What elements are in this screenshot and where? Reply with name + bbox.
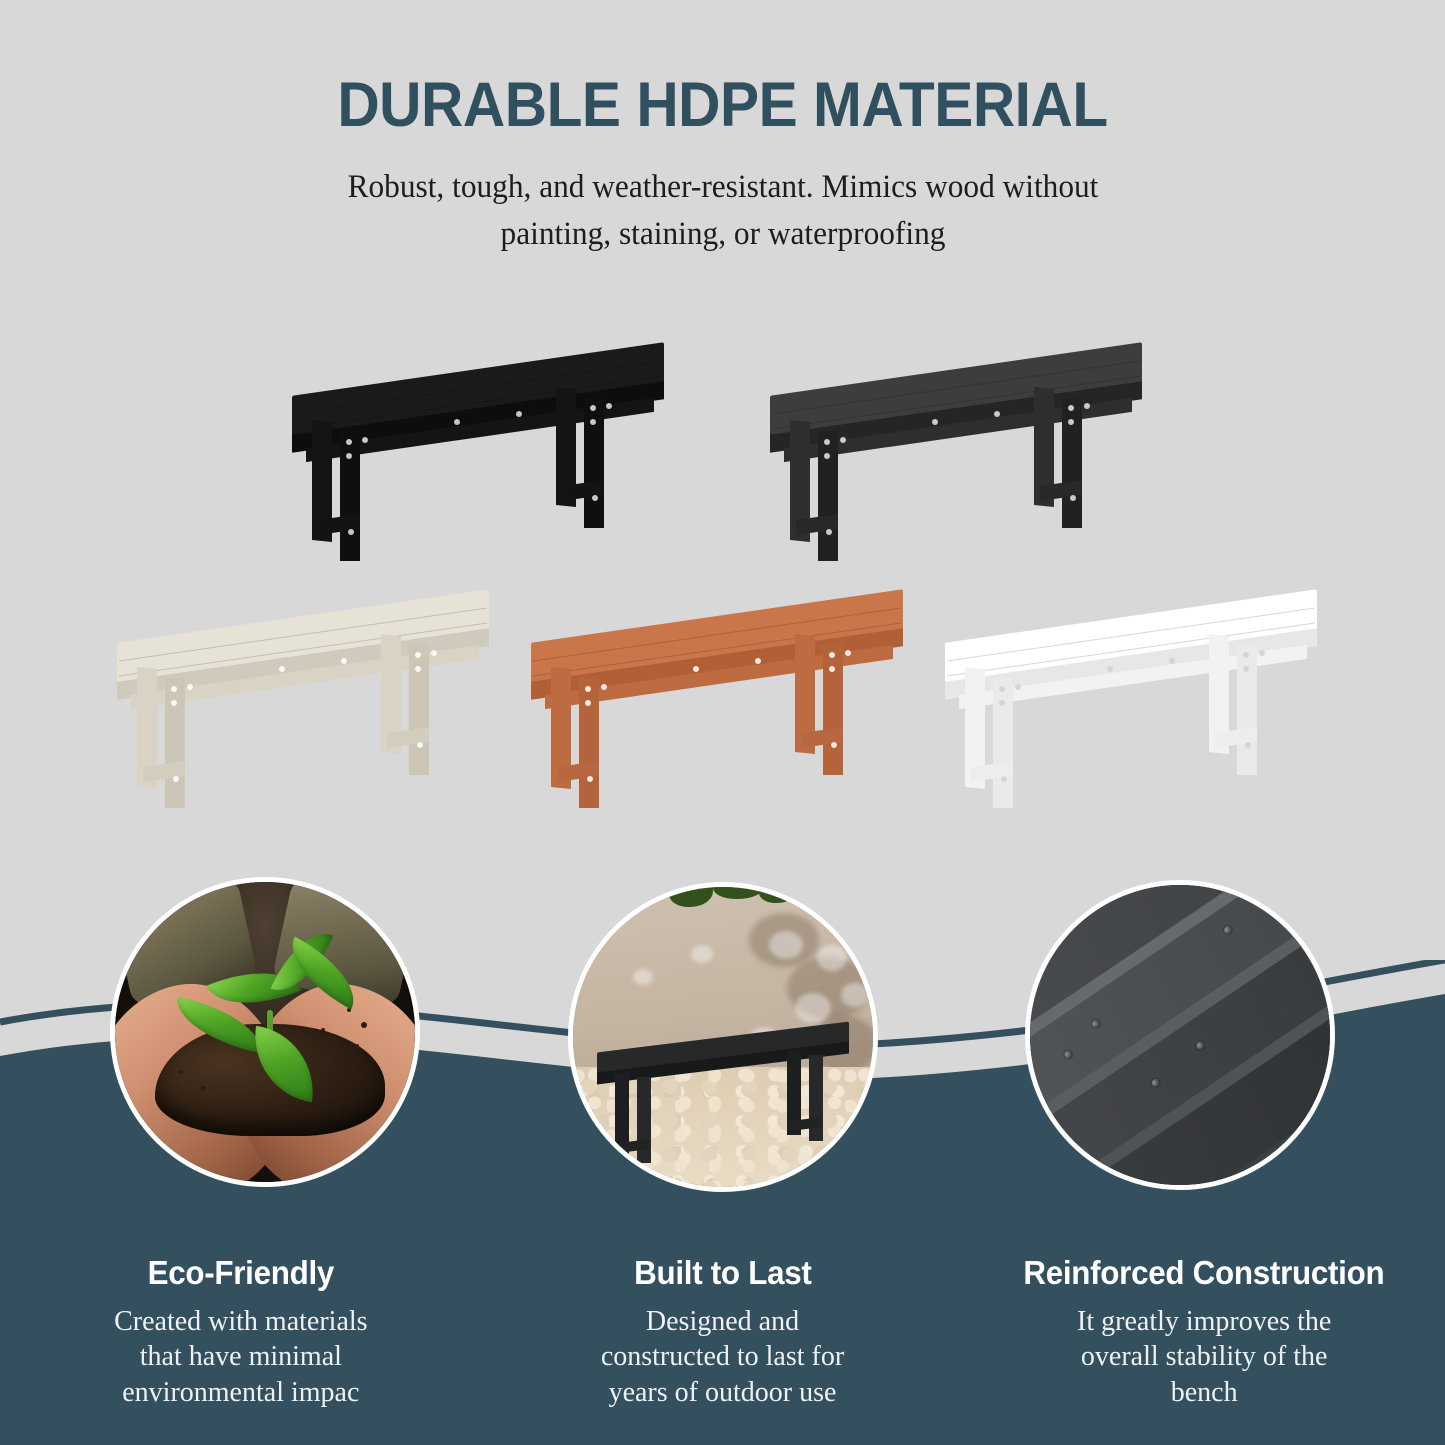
bench-leg-front-right bbox=[1237, 645, 1257, 775]
bench-illustration bbox=[937, 608, 1337, 823]
screw-icon bbox=[592, 495, 598, 501]
screw-icon bbox=[362, 437, 368, 443]
screw-icon bbox=[601, 684, 607, 690]
bench-leg-front-left bbox=[165, 678, 185, 808]
bench-leg-front-left bbox=[993, 678, 1013, 808]
page-subtitle: Robust, tough, and weather-resistant. Mi… bbox=[248, 164, 1198, 258]
screw-icon bbox=[1084, 403, 1090, 409]
bench-black bbox=[284, 361, 684, 576]
screw-icon bbox=[415, 666, 421, 672]
black-bench-outdoors-photo bbox=[568, 882, 878, 1192]
feature-caption-row: Eco-Friendly Created with materials that… bbox=[0, 1254, 1445, 1411]
feature-photo-row bbox=[0, 872, 1445, 1212]
screw-icon bbox=[346, 439, 352, 445]
feature-body-line-2: overall stability of the bbox=[1039, 1339, 1369, 1375]
screw-icon bbox=[606, 403, 612, 409]
screw-icon bbox=[415, 652, 421, 658]
screw-icon bbox=[845, 650, 851, 656]
feature-caption-eco-friendly: Eco-Friendly Created with materials that… bbox=[0, 1254, 482, 1411]
screw-icon bbox=[587, 776, 593, 782]
screw-icon bbox=[348, 529, 354, 535]
bench-color-gallery bbox=[0, 355, 1445, 875]
screw-icon bbox=[1001, 776, 1007, 782]
screw-icon bbox=[829, 666, 835, 672]
feature-body-line-3: environmental impac bbox=[76, 1375, 406, 1411]
feature-body-line-1: Designed and bbox=[573, 1304, 873, 1340]
bench-illustration bbox=[284, 361, 684, 576]
feature-body: Designed and constructed to last for yea… bbox=[573, 1304, 873, 1411]
screw-icon bbox=[173, 776, 179, 782]
reinforced-slat-closeup-photo bbox=[1025, 880, 1335, 1190]
bench-illustration bbox=[109, 608, 509, 823]
screw-icon bbox=[1070, 495, 1076, 501]
bench-leg-front-right bbox=[823, 645, 843, 775]
screw-icon bbox=[1259, 650, 1265, 656]
screw-icon bbox=[585, 686, 591, 692]
feature-body-line-1: Created with materials bbox=[76, 1304, 406, 1340]
screw-icon bbox=[831, 742, 837, 748]
bench-charcoal bbox=[762, 361, 1162, 576]
feature-body-line-3: bench bbox=[1039, 1375, 1369, 1411]
feature-body-line-3: years of outdoor use bbox=[573, 1375, 873, 1411]
bench-illustration bbox=[523, 608, 923, 823]
feature-body: It greatly improves the overall stabilit… bbox=[1039, 1304, 1369, 1411]
page-title: DURABLE HDPE MATERIAL bbox=[51, 72, 1395, 138]
hands-holding-seedling-photo bbox=[110, 877, 420, 1187]
screw-icon bbox=[590, 405, 596, 411]
feature-title: Eco-Friendly bbox=[29, 1254, 452, 1292]
screw-icon bbox=[1015, 684, 1021, 690]
feature-caption-reinforced-construction: Reinforced Construction It greatly impro… bbox=[963, 1254, 1445, 1411]
feature-body-line-1: It greatly improves the bbox=[1039, 1304, 1369, 1340]
screw-icon bbox=[516, 411, 522, 417]
screw-icon bbox=[932, 419, 938, 425]
header-block: DURABLE HDPE MATERIAL Robust, tough, and… bbox=[0, 0, 1445, 258]
screw-icon bbox=[171, 700, 177, 706]
bench-row-bottom bbox=[0, 608, 1445, 823]
screw-icon bbox=[840, 437, 846, 443]
bench-leg-front-right bbox=[1062, 398, 1082, 528]
subtitle-line-2: painting, staining, or waterproofing bbox=[248, 211, 1198, 258]
bench-leg-front-left bbox=[579, 678, 599, 808]
feature-body: Created with materials that have minimal… bbox=[76, 1304, 406, 1411]
screw-icon bbox=[824, 453, 830, 459]
screw-icon bbox=[1068, 405, 1074, 411]
bench-terracotta bbox=[523, 608, 923, 823]
feature-body-line-2: that have minimal bbox=[76, 1339, 406, 1375]
screw-icon bbox=[590, 419, 596, 425]
screw-icon bbox=[1068, 419, 1074, 425]
feature-body-line-2: constructed to last for bbox=[573, 1339, 873, 1375]
bench-leg-front-left bbox=[818, 431, 838, 561]
screw-icon bbox=[994, 411, 1000, 417]
screw-icon bbox=[417, 742, 423, 748]
screw-icon bbox=[279, 666, 285, 672]
screw-icon bbox=[1243, 666, 1249, 672]
screw-icon bbox=[187, 684, 193, 690]
bench-white bbox=[937, 608, 1337, 823]
screw-icon bbox=[755, 658, 761, 664]
screw-icon bbox=[829, 652, 835, 658]
bench-leg-front-right bbox=[409, 645, 429, 775]
screw-icon bbox=[999, 686, 1005, 692]
screw-icon bbox=[454, 419, 460, 425]
bench-row-top bbox=[0, 361, 1445, 576]
subtitle-line-1: Robust, tough, and weather-resistant. Mi… bbox=[248, 164, 1198, 211]
screw-icon bbox=[826, 529, 832, 535]
feature-title: Reinforced Construction bbox=[992, 1254, 1415, 1292]
bench-leg-front-left bbox=[340, 431, 360, 561]
screw-icon bbox=[999, 700, 1005, 706]
screw-icon bbox=[431, 650, 437, 656]
feature-title: Built to Last bbox=[511, 1254, 934, 1292]
infographic-canvas: DURABLE HDPE MATERIAL Robust, tough, and… bbox=[0, 0, 1445, 1445]
screw-icon bbox=[171, 686, 177, 692]
screw-icon bbox=[1245, 742, 1251, 748]
bench-illustration bbox=[762, 361, 1162, 576]
bench-beige bbox=[109, 608, 509, 823]
screw-icon bbox=[1169, 658, 1175, 664]
screw-icon bbox=[824, 439, 830, 445]
feature-caption-built-to-last: Built to Last Designed and constructed t… bbox=[482, 1254, 964, 1411]
screw-icon bbox=[1107, 666, 1113, 672]
bench-leg-front-right bbox=[584, 398, 604, 528]
screw-icon bbox=[1243, 652, 1249, 658]
screw-icon bbox=[346, 453, 352, 459]
screw-icon bbox=[693, 666, 699, 672]
screw-icon bbox=[585, 700, 591, 706]
screw-icon bbox=[341, 658, 347, 664]
